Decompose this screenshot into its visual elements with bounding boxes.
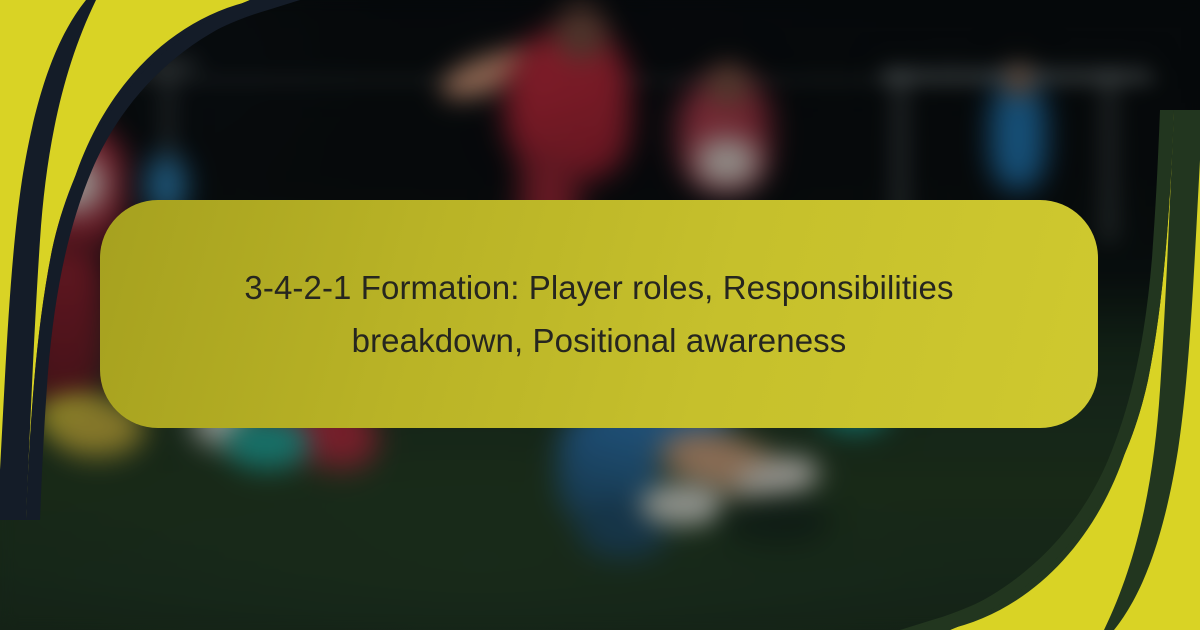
title-card: 3-4-2-1 Formation: Player roles, Respons… [100,200,1098,428]
social-share-banner: 3-4-2-1 Formation: Player roles, Respons… [0,0,1200,630]
page-title: 3-4-2-1 Formation: Player roles, Respons… [199,261,999,368]
